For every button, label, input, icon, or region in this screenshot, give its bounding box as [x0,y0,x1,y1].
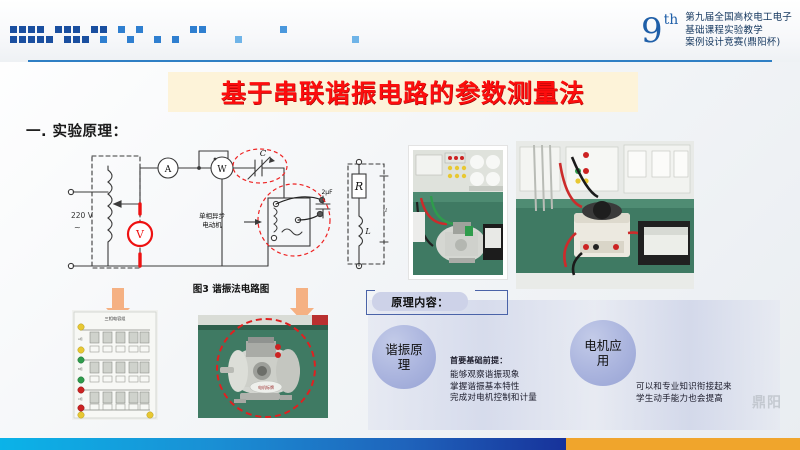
logo-line-2: 基础课程实验教学 [685,25,792,38]
slide-title: 基于串联谐振电路的参数测量法 [168,72,638,112]
dot-26 [235,36,242,43]
dot-6 [73,26,80,33]
decorative-dot-grid [10,26,430,48]
motor-emphasis-circle [258,184,330,256]
dot-7 [91,26,98,33]
circuit-caption: 图3 谐振法电路图 [176,281,286,295]
svg-text:B相: B相 [78,367,83,371]
motor-highlight-circle [216,318,316,418]
logo-line-1: 第九届全国高校电工电子 [685,12,792,25]
dot-22 [100,36,107,43]
motor-text-line-1: 可以和专业知识衔接起来 [636,382,764,394]
dot-8 [100,26,107,33]
svg-text:A相: A相 [78,337,83,341]
voltmeter-label: V [135,228,145,241]
dot-25 [172,36,179,43]
dot-5 [64,26,71,33]
dot-15 [19,36,26,43]
dot-16 [28,36,35,43]
capacitor-value-label: 2μF [321,189,333,196]
svg-text:C相: C相 [78,397,83,401]
header-divider-rule [28,60,772,62]
logo-line-3: 案例设计竞赛(鼎阳杯) [685,37,792,50]
inductor-label: L [364,227,370,236]
dot-18 [46,36,53,43]
logo-text-lines: 第九届全国高校电工电子 基础课程实验教学 案例设计竞赛(鼎阳杯) [685,12,792,50]
watermark: 鼎阳 [752,392,782,412]
dot-9 [118,26,125,33]
motor-text-line-2: 学生动手能力也会提高 [636,394,764,406]
dot-10 [136,26,143,33]
dot-1 [19,26,26,33]
resonance-text-line-1: 能够观察谐振现象 [450,370,560,382]
logo-edition-number: 9 [641,14,665,48]
slide-canvas: 9 th 第九届全国高校电工电子 基础课程实验教学 案例设计竞赛(鼎阳杯) 基于… [0,0,800,450]
motor-label-line1: 单相异步 [199,211,226,220]
dot-17 [37,36,44,43]
dot-2 [28,26,35,33]
dot-12 [199,26,206,33]
circuit-diagram: A W V C 2μF R L u 220 V ~ 单相异步 电动机 [62,146,392,296]
dot-4 [55,26,62,33]
bubble-resonance-label: 谐振原理 [385,342,423,372]
dot-13 [280,26,287,33]
dot-21 [82,36,89,43]
resonance-text-line-3: 完成对电机控制和计量 [450,393,560,405]
resonance-text-line-2: 掌握谐振基本特性 [450,382,560,394]
dot-0 [10,26,17,33]
wattmeter-label: W [217,165,227,175]
bubble-motor-label: 电机应用 [584,338,622,368]
dot-11 [190,26,197,33]
svg-text:三相电容组: 三相电容组 [105,315,126,322]
photo-equipment-bench [516,141,694,289]
logo-ordinal-suffix: th [664,12,679,28]
resistor-label: R [354,180,363,193]
dot-20 [73,36,80,43]
section-heading: 一. 实验原理： [26,120,128,141]
motor-label-line2: 电动机 [202,220,222,229]
resonance-text-block: 首要基础前提： 能够观察谐振现象 掌握谐振基本特性 完成对电机控制和计量 [450,355,560,405]
bottom-bar-orange-segment [566,438,800,450]
dot-3 [37,26,44,33]
dot-27 [352,36,359,43]
bubble-motor-application[interactable]: 电机应用 [570,320,636,386]
bubble-resonance-principle[interactable]: 谐振原理 [372,325,436,389]
slide-header: 9 th 第九届全国高校电工电子 基础课程实验教学 案例设计竞赛(鼎阳杯) [0,0,800,62]
dot-14 [10,36,17,43]
circuit-diagram-svg: A W V C 2μF R L u 220 V ~ 单相异步 电动机 [62,146,392,296]
motor-text-block: 可以和专业知识衔接起来 学生动手能力也会提高 [636,382,764,405]
principle-content-tag: 原理内容： [372,292,468,311]
source-ac-symbol: ~ [74,223,81,232]
bottom-accent-bar [0,438,800,450]
dot-23 [127,36,134,43]
photo-motor-test-bench [408,145,508,280]
photo-capacitor-bank-panel: 三相电容组 [72,310,158,420]
dot-24 [154,36,161,43]
ammeter-label: A [164,165,172,175]
resonance-text-head: 首要基础前提： [450,355,560,366]
bottom-bar-blue-segment [0,438,566,450]
competition-logo: 9 th 第九届全国高校电工电子 基础课程实验教学 案例设计竞赛(鼎阳杯) [641,4,792,58]
capacitor-label: C [260,149,267,159]
source-voltage-label: 220 V [71,211,94,220]
dot-19 [64,36,71,43]
branch-voltage-label: u [383,206,388,214]
